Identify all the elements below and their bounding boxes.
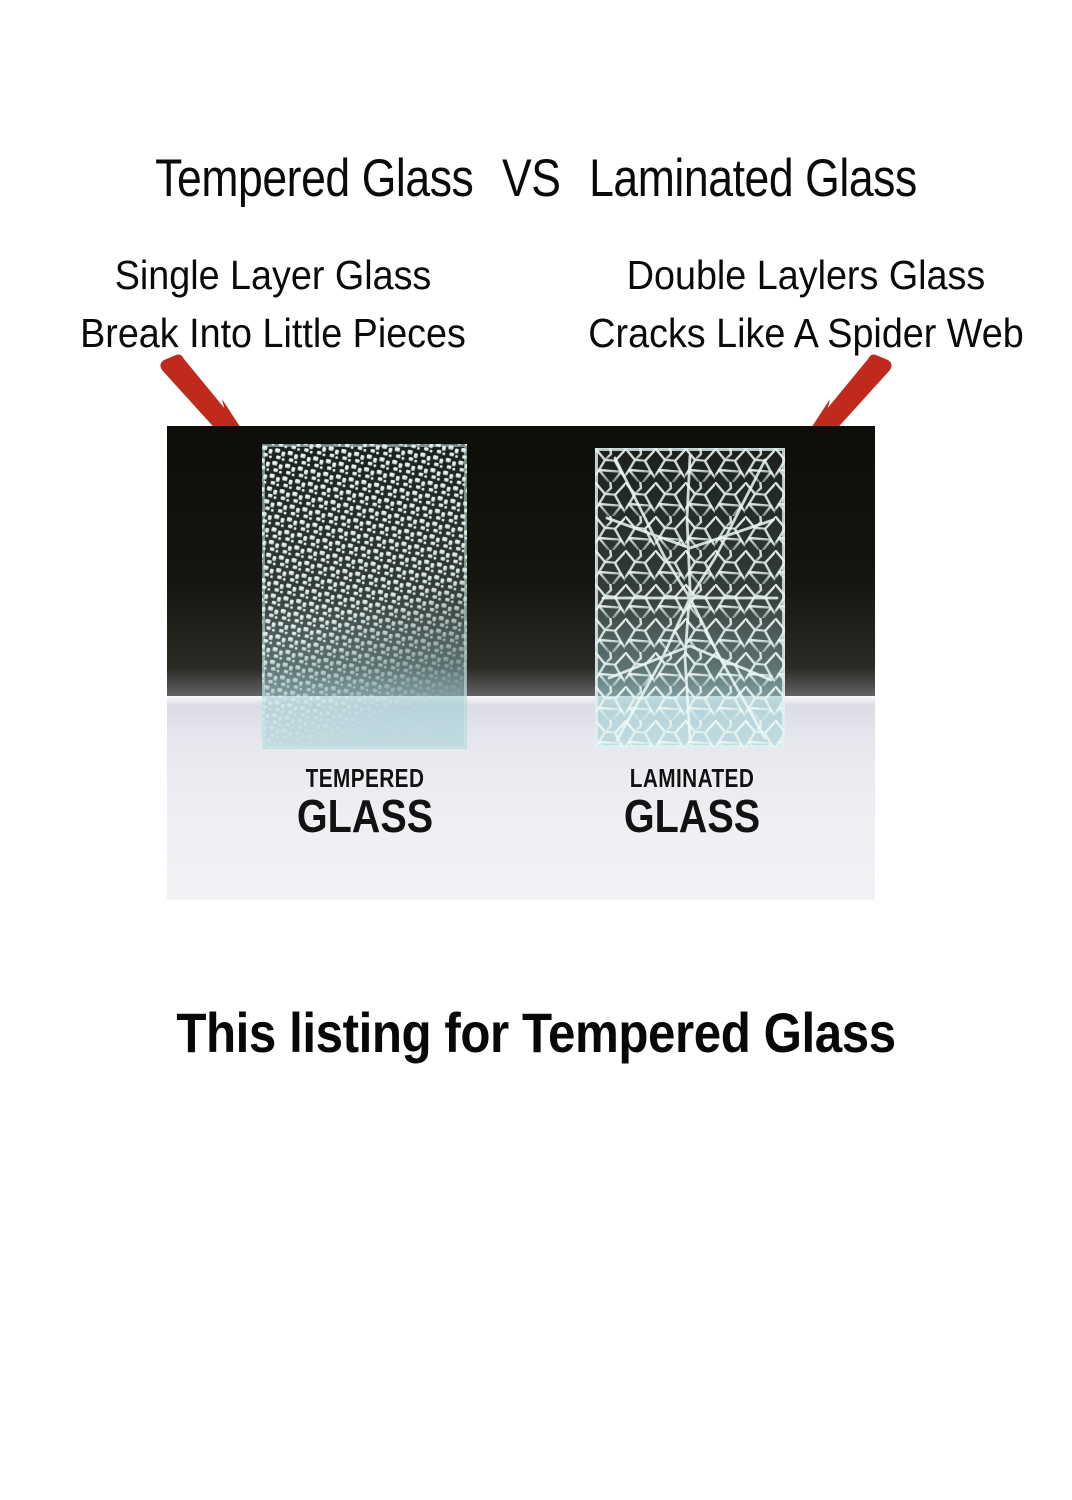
photo-label-tempered: TEMPERED GLASS [225,764,505,840]
photo-label-laminated: LAMINATED GLASS [552,764,832,840]
laminated-glass-panel [595,448,785,748]
caption-laminated: Double Laylers Glass Cracks Like A Spide… [561,246,1050,362]
caption-tempered-line-1: Single Layer Glass [29,246,517,304]
headline-left-term: Tempered Glass [155,148,473,210]
caption-tempered-line-2: Break Into Little Pieces [29,304,517,362]
caption-laminated-line-2: Cracks Like A Spider Web [561,304,1050,362]
photo-label-laminated-small: LAMINATED [580,764,804,792]
broken-glass-comparison-photo: TEMPERED GLASS LAMINATED GLASS [167,426,875,900]
tempered-fragment-pattern [262,444,467,749]
page-title: Tempered GlassVSLaminated Glass [86,148,986,210]
photo-label-laminated-big: GLASS [572,793,813,840]
caption-laminated-line-1: Double Laylers Glass [561,246,1050,304]
tempered-glass-panel [262,444,467,749]
headline-right-term: Laminated Glass [589,148,917,210]
listing-note: This listing for Tempered Glass [64,1000,1007,1066]
laminated-spiderweb-crack-pattern [595,448,785,748]
headline-vs-label: VS [502,148,561,210]
photo-label-tempered-big: GLASS [245,793,486,840]
caption-tempered: Single Layer Glass Break Into Little Pie… [29,246,517,362]
photo-label-tempered-small: TEMPERED [253,764,477,792]
infographic-page: Tempered GlassVSLaminated Glass Single L… [0,0,1072,1500]
